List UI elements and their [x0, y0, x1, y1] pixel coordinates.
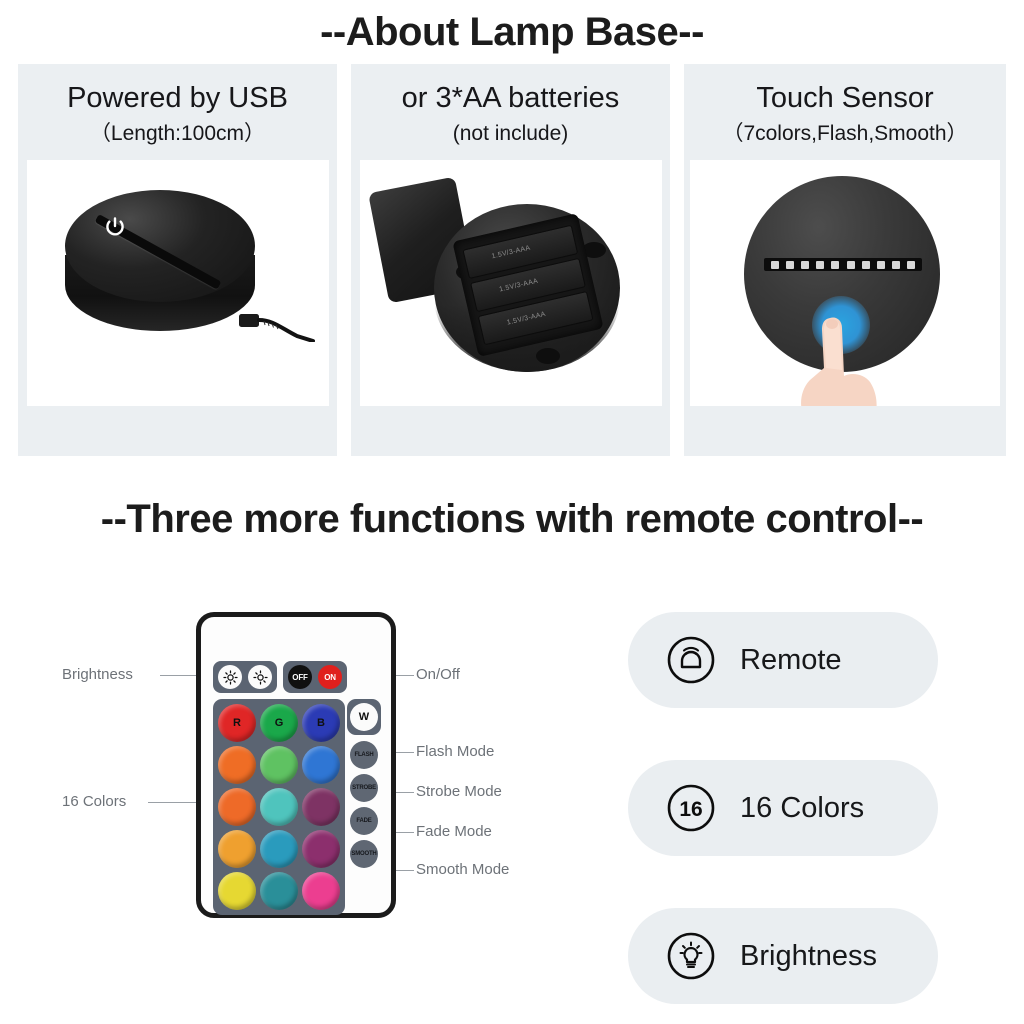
flash-mode-button[interactable]: FLASH	[350, 741, 378, 769]
mode-column: W FLASH STROBE FADE SMOOTH	[347, 699, 381, 868]
pill-label: 16 Colors	[740, 792, 864, 825]
color-button-11[interactable]	[260, 830, 298, 868]
feature-panels: Powered by USB （Length:100cm） or 3*AA ba…	[18, 64, 1006, 456]
color-button-15[interactable]	[302, 872, 340, 910]
touch-sensor-photo	[690, 160, 1000, 406]
off-button[interactable]: OFF	[288, 665, 312, 689]
power-icon	[103, 215, 127, 239]
lamp-base-usb-photo	[27, 160, 329, 406]
pill-brightness: Brightness	[628, 908, 938, 1004]
svg-text:16: 16	[679, 798, 702, 821]
rubber-foot	[536, 348, 560, 364]
usb-cable	[237, 302, 315, 342]
color-button-10[interactable]	[218, 830, 256, 868]
color-pad: R G B	[213, 699, 345, 915]
color-button-13[interactable]	[218, 872, 256, 910]
battery-label: 1.5V/3-AAA	[498, 278, 538, 294]
pill-16-colors: 16 16 Colors	[628, 760, 938, 856]
color-button-6[interactable]	[302, 746, 340, 784]
panel-title: or 3*AA batteries	[402, 78, 620, 118]
page-title-remote-functions: --Three more functions with remote contr…	[0, 494, 1024, 544]
battery-compartment-photo: 1.5V/3-AAA 1.5V/3-AAA 1.5V/3-AAA	[360, 160, 662, 406]
callout-on-off: On/Off	[416, 666, 460, 683]
color-button-red[interactable]: R	[218, 704, 256, 742]
brightness-group	[213, 661, 277, 693]
fade-mode-button[interactable]: FADE	[350, 807, 378, 835]
panel-subtitle: （7colors,Flash,Smooth）	[722, 118, 967, 150]
bulb-icon	[666, 931, 716, 981]
brightness-down-button[interactable]	[248, 665, 272, 689]
pill-label: Brightness	[740, 940, 877, 973]
pill-label: Remote	[740, 644, 842, 677]
color-button-blue[interactable]: B	[302, 704, 340, 742]
sixteen-circle-icon: 16	[666, 783, 716, 833]
panel-powered-by-usb: Powered by USB （Length:100cm）	[18, 64, 337, 456]
callout-flash-mode: Flash Mode	[416, 743, 494, 760]
panel-aa-batteries: or 3*AA batteries (not include) 1.5V/3-A…	[351, 64, 670, 456]
callout-strobe-mode: Strobe Mode	[416, 783, 502, 800]
panel-title: Touch Sensor	[756, 78, 933, 118]
page-title-about-lamp-base: --About Lamp Base--	[0, 8, 1024, 56]
feature-pills: Remote 16 16 Colors Brightness	[628, 612, 938, 1004]
color-button-green[interactable]: G	[260, 704, 298, 742]
remote-top-row: OFF ON	[213, 661, 379, 693]
color-button-9[interactable]	[302, 788, 340, 826]
panel-title: Powered by USB	[67, 78, 288, 118]
brightness-up-button[interactable]	[218, 665, 242, 689]
remote-section: Brightness 16 Colors On/Off Flash Mode S…	[0, 596, 1024, 1016]
battery-label: 1.5V/3-AAA	[506, 311, 546, 327]
strobe-mode-button[interactable]: STROBE	[350, 774, 378, 802]
smooth-mode-button[interactable]: SMOOTH	[350, 840, 378, 868]
power-group: OFF ON	[283, 661, 347, 693]
color-button-4[interactable]	[218, 746, 256, 784]
lamp-base-top	[65, 190, 255, 302]
color-button-5[interactable]	[260, 746, 298, 784]
on-button[interactable]: ON	[318, 665, 342, 689]
callout-brightness: Brightness	[62, 666, 133, 683]
panel-subtitle: （Length:100cm）	[90, 118, 265, 150]
panel-touch-sensor: Touch Sensor （7colors,Flash,Smooth）	[684, 64, 1006, 456]
callout-fade-mode: Fade Mode	[416, 823, 492, 840]
remote-control: OFF ON R G B W FLASH	[196, 612, 396, 918]
led-strip	[764, 258, 922, 271]
remote-signal-icon	[666, 635, 716, 685]
sun-icon	[253, 670, 268, 685]
panel-subtitle: (not include)	[453, 118, 569, 150]
pill-remote: Remote	[628, 612, 938, 708]
color-button-7[interactable]	[218, 788, 256, 826]
white-button-wrap: W	[347, 699, 381, 735]
callout-smooth-mode: Smooth Mode	[416, 861, 509, 878]
color-button-14[interactable]	[260, 872, 298, 910]
pointing-hand	[786, 310, 906, 406]
battery-label: 1.5V/3-AAA	[490, 245, 530, 261]
sun-icon	[223, 670, 238, 685]
callout-16-colors: 16 Colors	[62, 793, 126, 810]
white-button[interactable]: W	[350, 703, 378, 731]
color-button-8[interactable]	[260, 788, 298, 826]
color-button-12[interactable]	[302, 830, 340, 868]
